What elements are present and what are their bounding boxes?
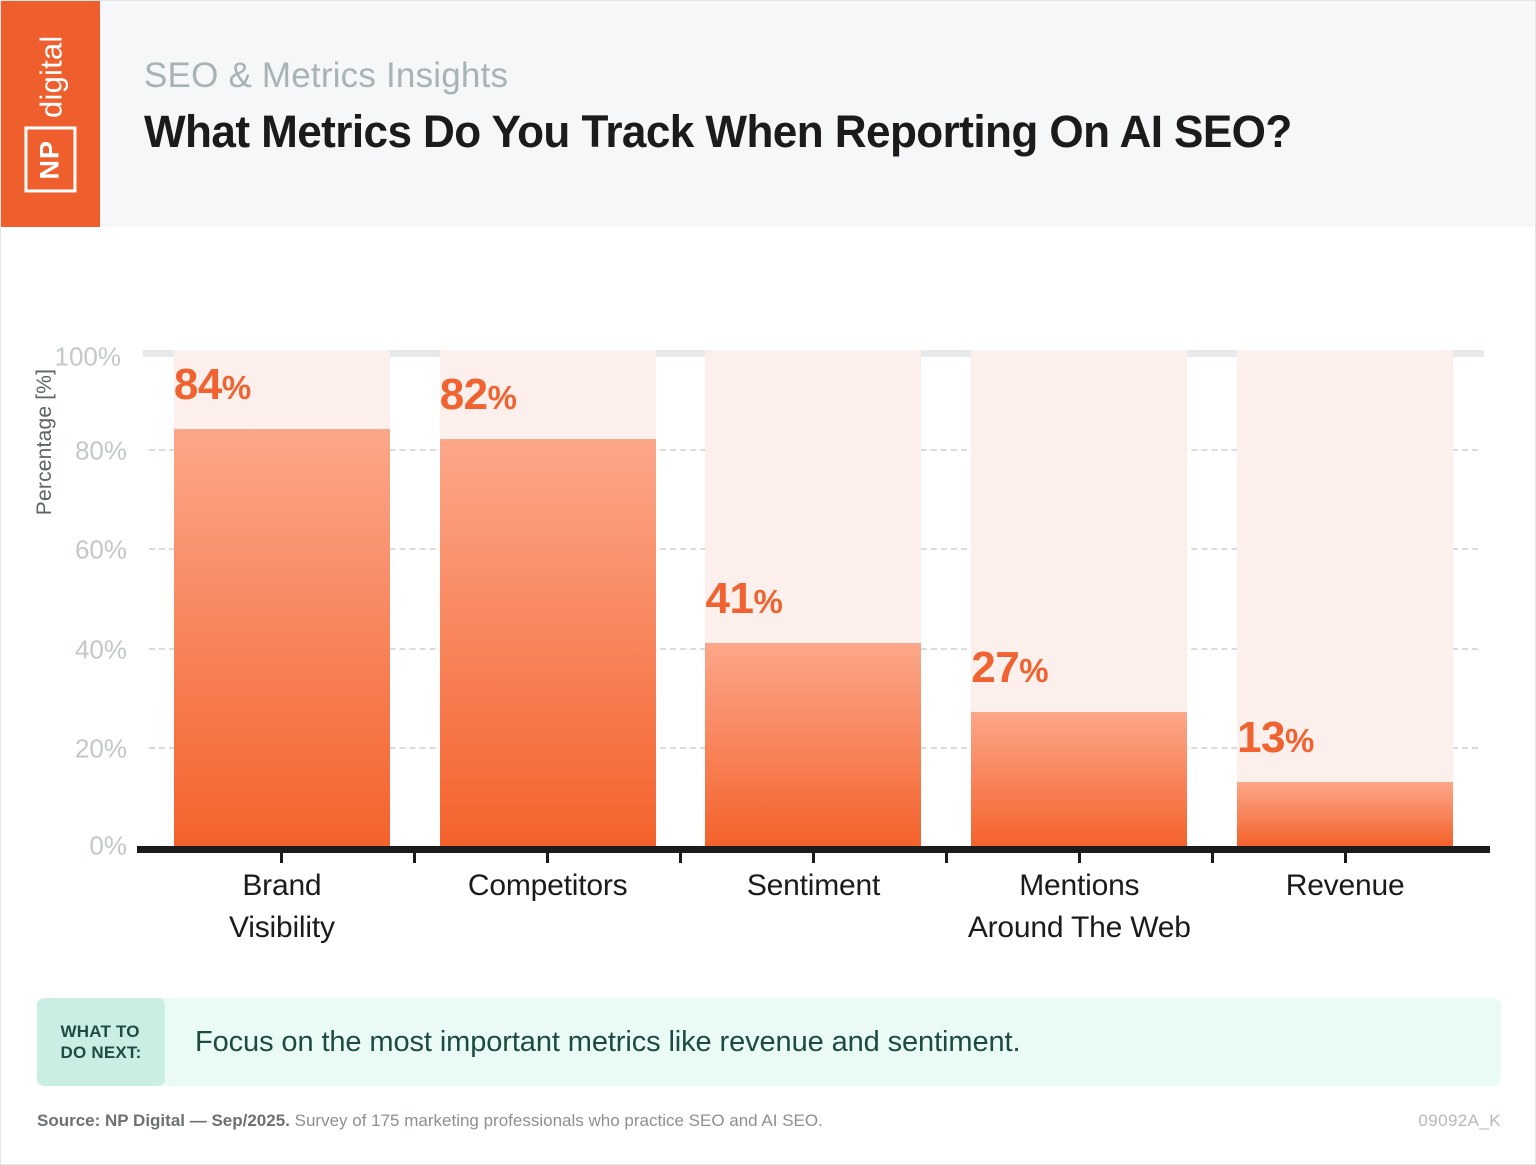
source-note-bold: Source: NP Digital — Sep/2025. — [37, 1111, 290, 1130]
bar-fill: 41% — [705, 643, 921, 846]
bar-value-label: 27% — [971, 646, 1048, 690]
bar-fill: 13% — [1237, 782, 1453, 846]
bar-column[interactable]: 84% — [149, 350, 415, 846]
x-axis-label: BrandVisibility — [149, 865, 415, 949]
y-tick-label-100: 100% — [55, 342, 122, 373]
y-tick-label-60: 60% — [75, 535, 127, 566]
header-kicker: SEO & Metrics Insights — [144, 56, 1315, 96]
source-note: Source: NP Digital — Sep/2025. Survey of… — [37, 1111, 823, 1131]
x-axis-label-line1: Sentiment — [685, 865, 943, 907]
plot-region: 0%20%40%60%80%100% 84%82%41%27%13% — [149, 350, 1478, 846]
bar-value-label: 41% — [705, 577, 782, 621]
bar-column[interactable]: 82% — [415, 350, 681, 846]
x-axis-label: Competitors — [415, 865, 681, 949]
callout-tag: WHAT TO DO NEXT: — [37, 998, 165, 1086]
callout-body-text: Focus on the most important metrics like… — [165, 998, 1020, 1086]
x-axis-label: Sentiment — [681, 865, 947, 949]
bar-fill: 84% — [174, 429, 390, 846]
bar-value-label: 84% — [174, 363, 251, 407]
logo-digital-word: digital — [35, 36, 66, 118]
bar-fill: 82% — [440, 439, 656, 846]
x-axis-label-line1: Mentions — [950, 865, 1208, 907]
header-band: NP digital SEO & Metrics Insights What M… — [1, 1, 1536, 227]
bar-column[interactable]: 13% — [1212, 350, 1478, 846]
bar-value-label: 13% — [1237, 716, 1314, 760]
what-to-do-next-callout: WHAT TO DO NEXT: Focus on the most impor… — [37, 998, 1501, 1086]
bars-group: 84%82%41%27%13% — [149, 350, 1478, 846]
callout-tag-line2: DO NEXT: — [61, 1042, 142, 1063]
bar-track — [1237, 350, 1453, 846]
chart-area: Percentage [%] 0%20%40%60%80%100% 84%82%… — [1, 227, 1536, 987]
callout-tag-text: WHAT TO DO NEXT: — [61, 1021, 142, 1064]
y-axis-title: Percentage [%] — [33, 312, 57, 572]
page-title: What Metrics Do You Track When Reporting… — [144, 108, 1292, 155]
x-axis-label-line2: Visibility — [153, 907, 411, 949]
x-axis-labels: BrandVisibilityCompetitorsSentimentMenti… — [149, 865, 1478, 949]
bar-column[interactable]: 41% — [681, 350, 947, 846]
y-tick-label-80: 80% — [75, 436, 127, 467]
x-axis-baseline — [137, 846, 1490, 853]
logo-np-box: NP — [25, 127, 77, 193]
bar-fill: 27% — [971, 712, 1187, 846]
x-axis-label: Revenue — [1212, 865, 1478, 949]
x-axis-label: MentionsAround The Web — [946, 865, 1212, 949]
logo-stack: NP digital — [25, 36, 77, 193]
x-axis-label-line1: Brand — [153, 865, 411, 907]
callout-tag-line1: WHAT TO — [61, 1021, 142, 1042]
header-text-group: SEO & Metrics Insights What Metrics Do Y… — [100, 1, 1315, 227]
bar-column[interactable]: 27% — [946, 350, 1212, 846]
y-tick-label-20: 20% — [75, 733, 127, 764]
footer: Source: NP Digital — Sep/2025. Survey of… — [37, 1111, 1501, 1131]
y-tick-label-0: 0% — [89, 831, 127, 862]
x-axis-label-line2: Around The Web — [950, 907, 1208, 949]
y-tick-label-40: 40% — [75, 634, 127, 665]
np-digital-logo: NP digital — [1, 1, 100, 227]
bar-value-label: 82% — [440, 373, 517, 417]
asset-code: 09092A_K — [1418, 1111, 1501, 1131]
x-axis-label-line1: Revenue — [1216, 865, 1474, 907]
source-note-rest: Survey of 175 marketing professionals wh… — [290, 1111, 823, 1130]
infographic-root: NP digital SEO & Metrics Insights What M… — [0, 0, 1536, 1165]
x-axis-label-line1: Competitors — [419, 865, 677, 907]
